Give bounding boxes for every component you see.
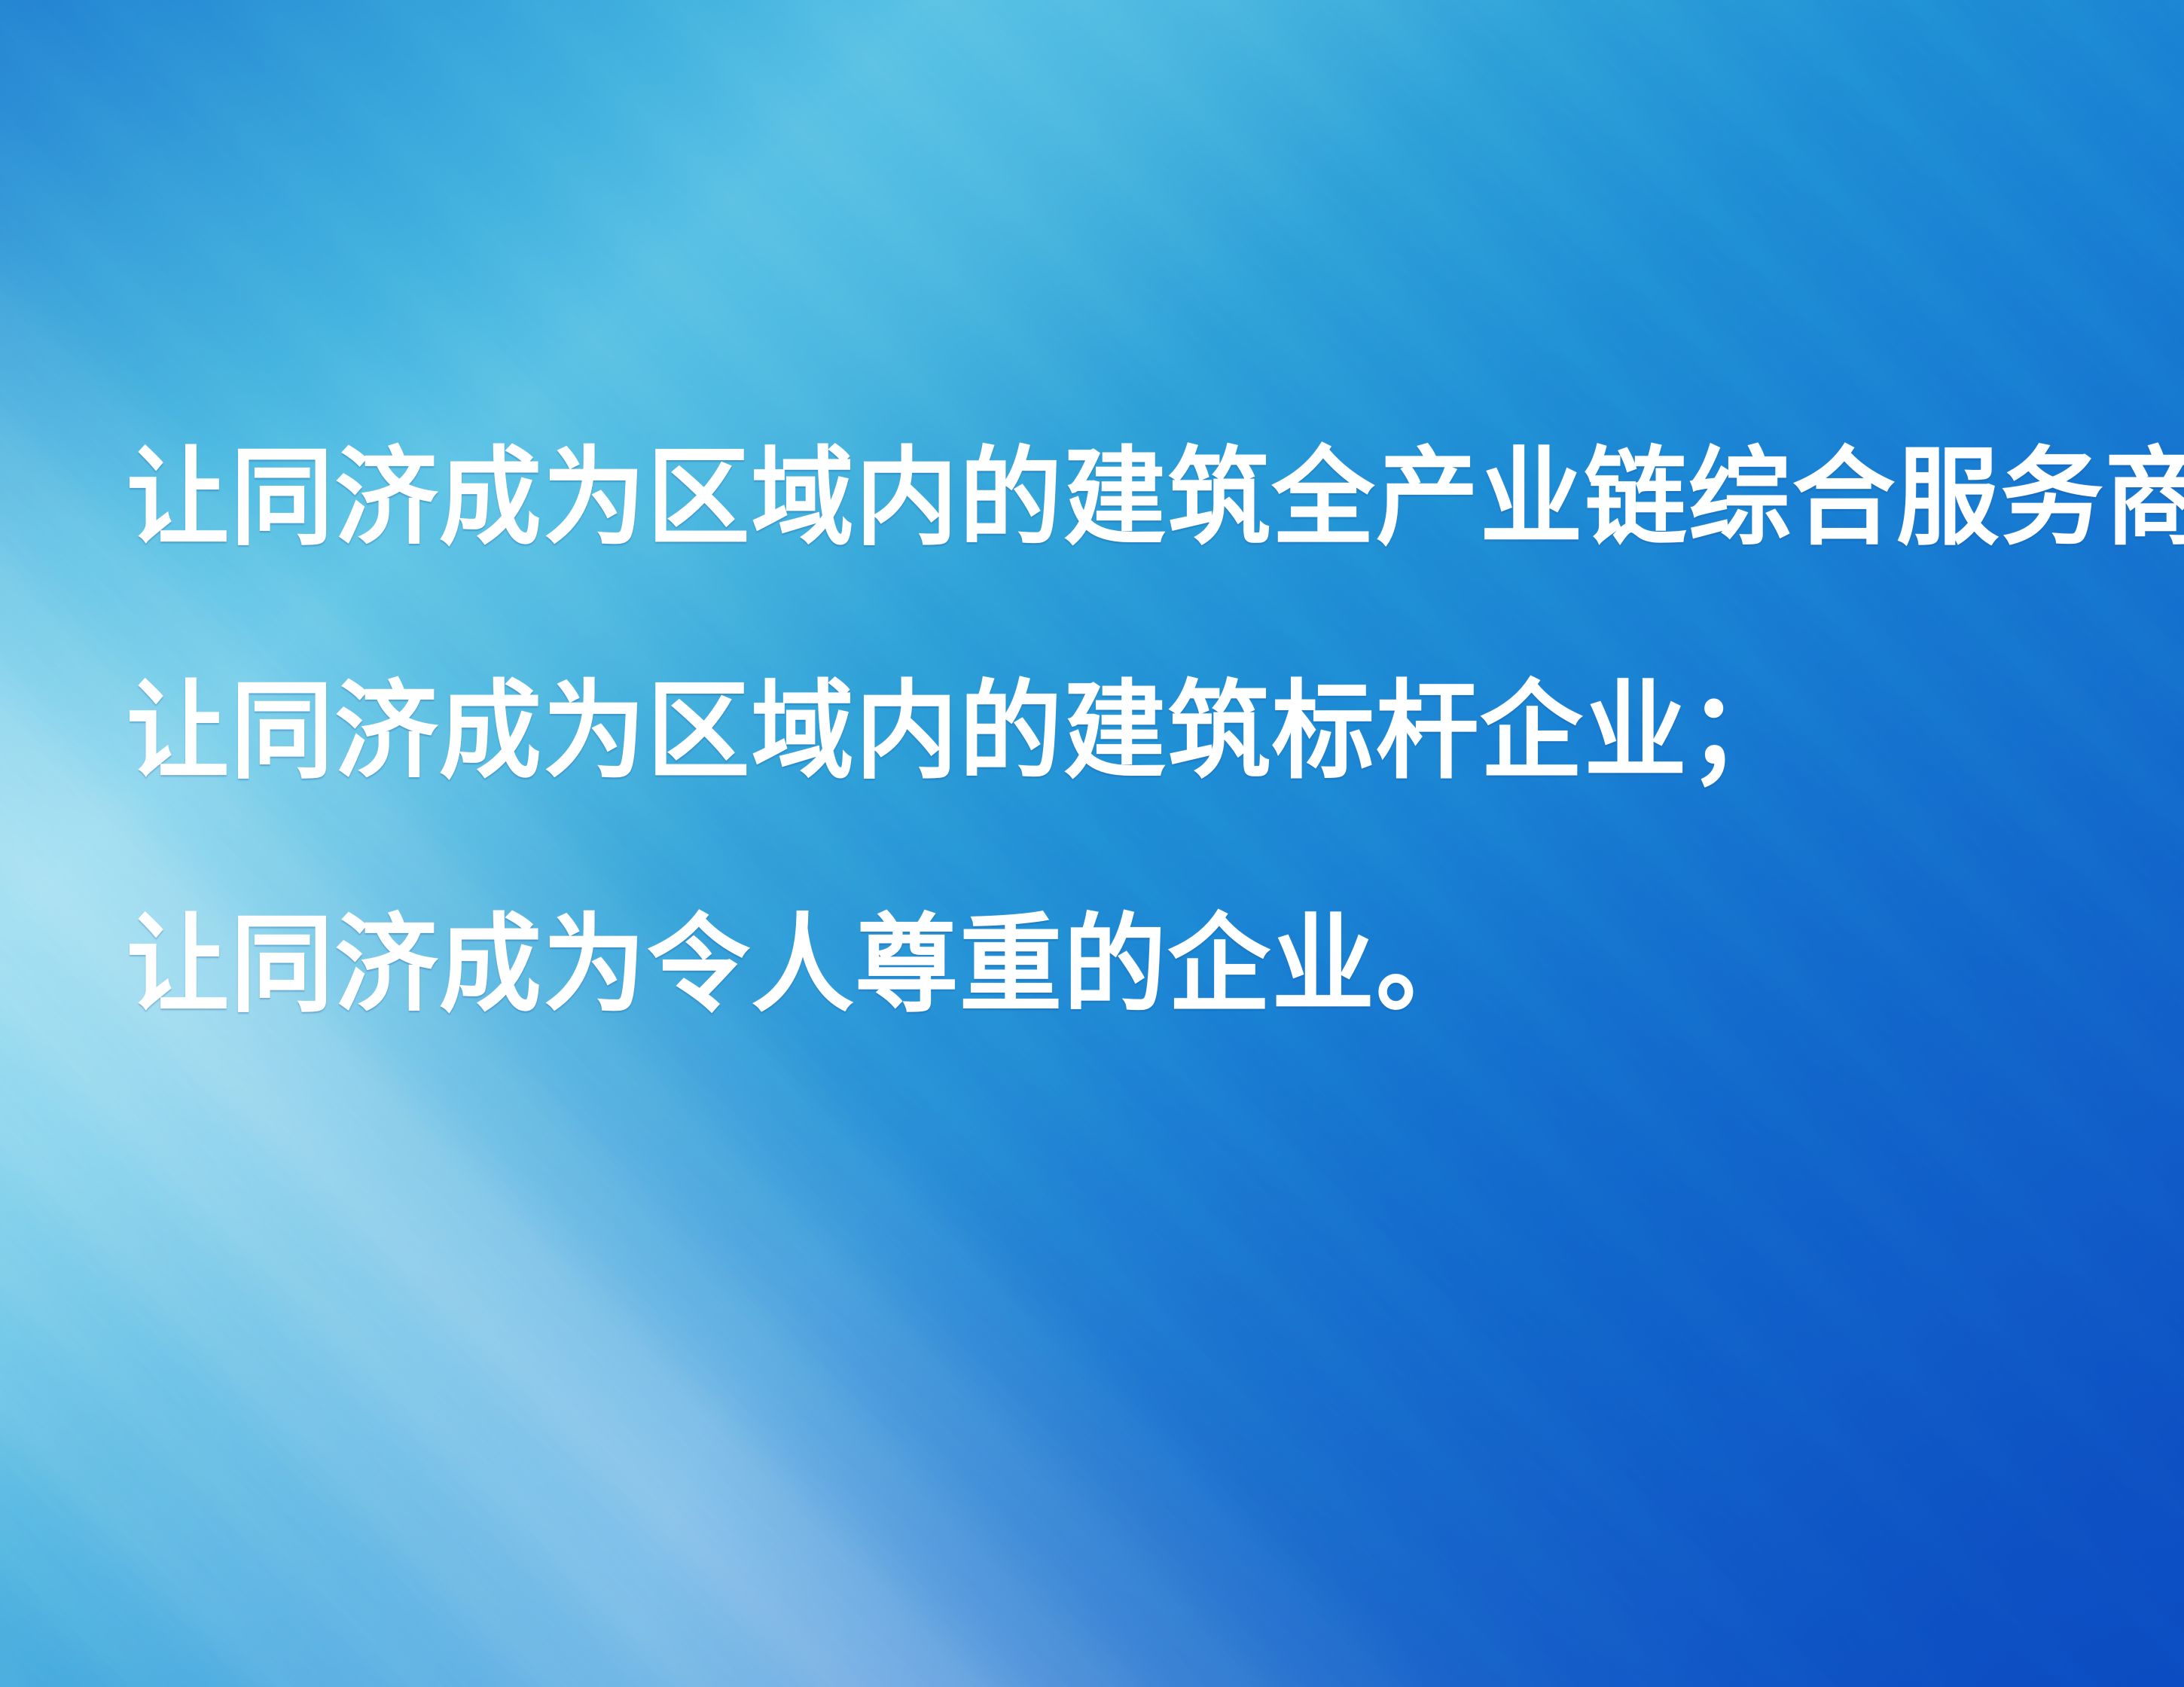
slogan-line-1: 让同济成为区域内的建筑全产业链综合服务商； — [127, 444, 2006, 551]
slogan-line-2: 让同济成为区域内的建筑标杆企业； — [127, 678, 2006, 785]
slogan-text-block: 让同济成为区域内的建筑全产业链综合服务商； 让同济成为区域内的建筑标杆企业； 让… — [127, 444, 2085, 1018]
slide-canvas: 让同济成为区域内的建筑全产业链综合服务商； 让同济成为区域内的建筑标杆企业； 让… — [0, 0, 2184, 1687]
slogan-line-3: 让同济成为令人尊重的企业。 — [127, 911, 2006, 1018]
